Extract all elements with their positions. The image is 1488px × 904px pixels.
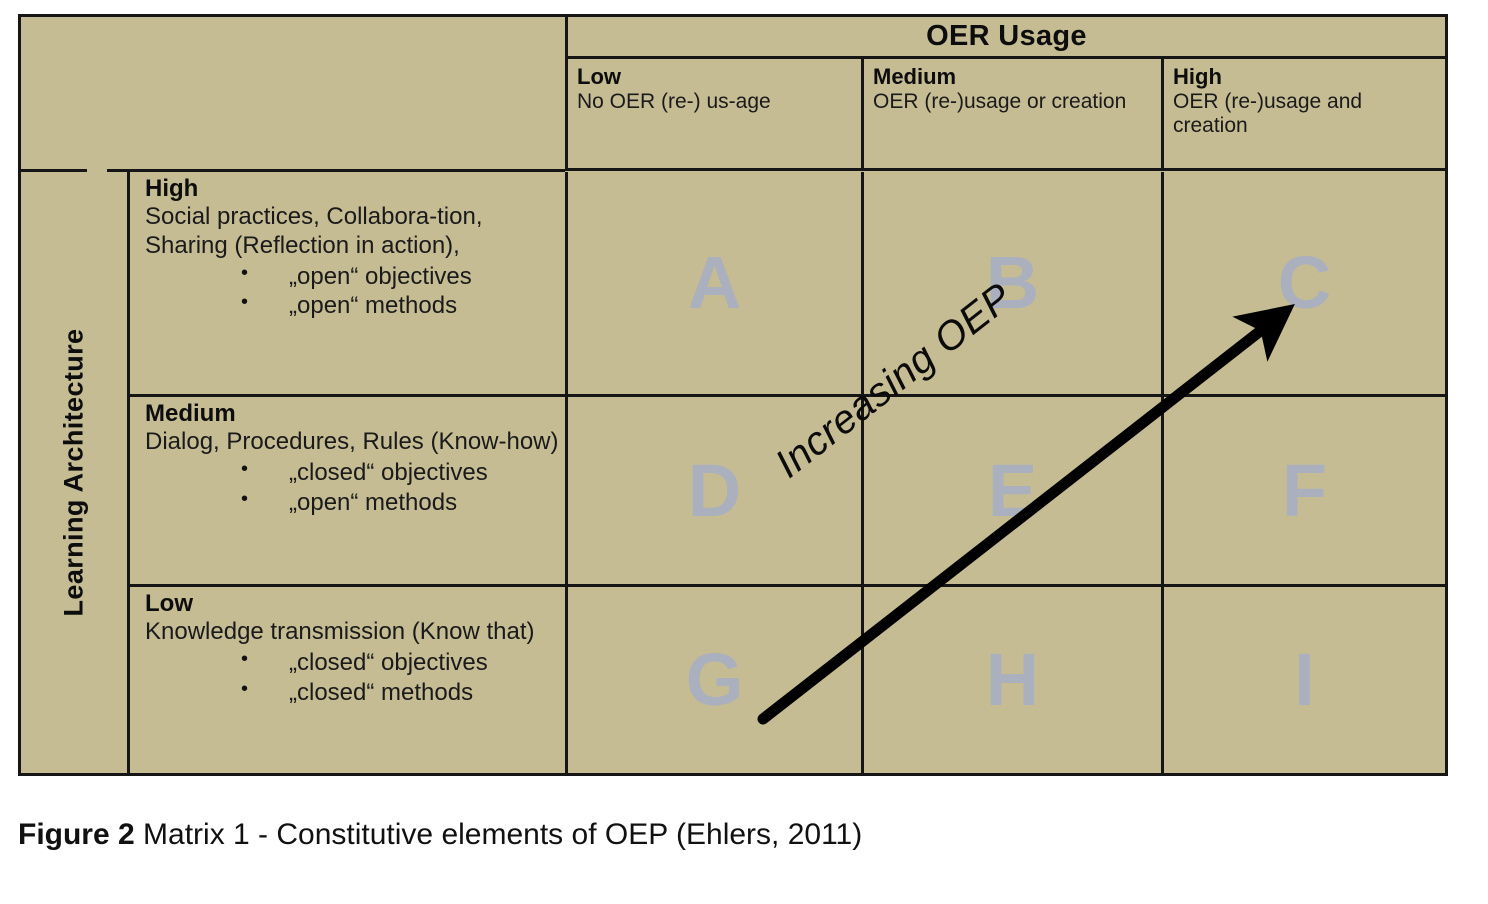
matrix-cell-letter: G (686, 643, 744, 717)
row-header-low-bullets: „closed“ objectives „closed“ methods (145, 648, 559, 707)
list-item: „closed“ methods (241, 678, 559, 708)
column-header-high: High OER (re-)usage and creation (1161, 59, 1445, 171)
row-axis-title-cell: Learning Architecture (21, 172, 127, 773)
column-header-low: Low No OER (re-) us-age (565, 59, 861, 171)
corner-cell-empty (21, 17, 565, 171)
list-item: „open“ objectives (241, 262, 559, 292)
row-header-high-description: Social practices, Collabora-tion, Sharin… (145, 203, 559, 261)
row-header-low-level: Low (145, 590, 559, 618)
matrix-cell-letter: A (688, 246, 741, 320)
row-axis-title: Learning Architecture (59, 329, 90, 617)
matrix-cell-letter: F (1282, 454, 1327, 528)
matrix-cell-letter: H (986, 643, 1039, 717)
matrix-cell-i: I (1161, 587, 1445, 773)
matrix-cell-f: F (1161, 397, 1445, 587)
figure-container: OER Usage Low No OER (re-) us-age Medium… (0, 0, 1488, 904)
matrix-cell-letter: D (688, 454, 741, 528)
column-header-medium-description: OER (re-)usage or creation (873, 90, 1153, 114)
figure-caption: Figure 2 Matrix 1 - Constitutive element… (18, 818, 862, 852)
list-item: „closed“ objectives (241, 648, 559, 678)
column-header-low-level: Low (577, 65, 853, 90)
matrix-cell-letter: C (1278, 246, 1331, 320)
matrix-cell-g: G (565, 587, 861, 773)
matrix-cell-letter: I (1294, 643, 1315, 717)
column-axis-title-cell: OER Usage (565, 17, 1445, 59)
row-header-high: High Social practices, Collabora-tion, S… (127, 172, 565, 397)
row-header-high-bullets: „open“ objectives „open“ methods (145, 262, 559, 321)
figure-caption-label: Figure 2 (18, 818, 135, 851)
column-header-low-description: No OER (re-) us-age (577, 90, 853, 114)
matrix-cell-a: A (565, 172, 861, 397)
row-header-medium-level: Medium (145, 400, 559, 428)
row-header-medium-bullets: „closed“ objectives „open“ methods (145, 458, 559, 517)
column-header-medium-level: Medium (873, 65, 1153, 90)
list-item: „closed“ objectives (241, 458, 559, 488)
matrix-cell-letter: E (988, 454, 1037, 528)
row-header-high-level: High (145, 175, 559, 203)
list-item: „open“ methods (241, 488, 559, 518)
matrix-cell-c: C (1161, 172, 1445, 397)
figure-caption-text: Matrix 1 - Constitutive elements of OEP … (135, 818, 863, 851)
oep-matrix-table: OER Usage Low No OER (re-) us-age Medium… (18, 14, 1448, 776)
column-axis-title: OER Usage (926, 20, 1087, 53)
list-item: „open“ methods (241, 291, 559, 321)
column-header-high-level: High (1173, 65, 1437, 90)
row-header-low: Low Knowledge transmission (Know that) „… (127, 587, 565, 773)
row-header-medium: Medium Dialog, Procedures, Rules (Know-h… (127, 397, 565, 587)
row-header-low-description: Knowledge transmission (Know that) (145, 618, 559, 647)
matrix-cell-h: H (861, 587, 1161, 773)
column-header-high-description: OER (re-)usage and creation (1173, 90, 1437, 137)
row-header-medium-description: Dialog, Procedures, Rules (Know-how) (145, 428, 559, 457)
matrix-cell-e: E (861, 397, 1161, 587)
column-header-medium: Medium OER (re-)usage or creation (861, 59, 1161, 171)
